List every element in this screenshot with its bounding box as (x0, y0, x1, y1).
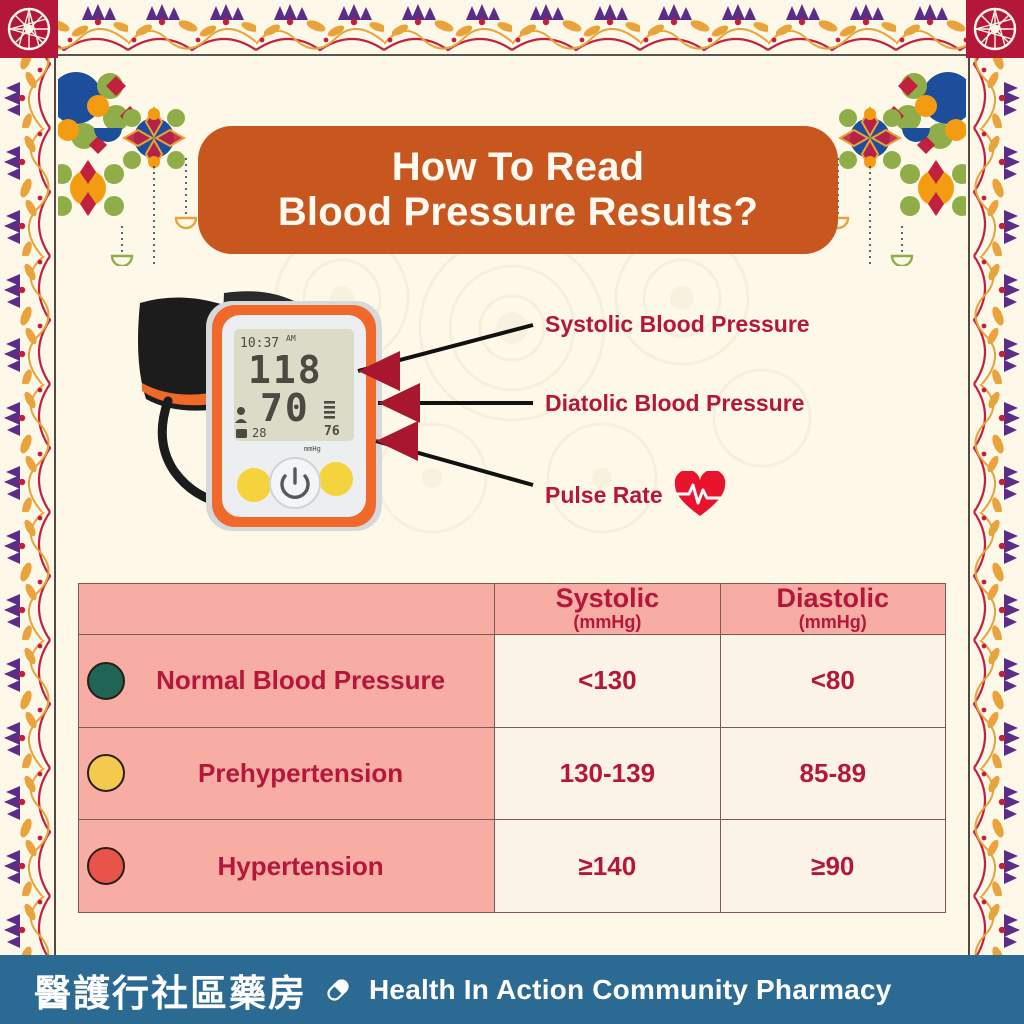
capsule-pill-icon (321, 973, 355, 1007)
systolic-value: 130-139 (495, 727, 720, 820)
diastolic-value: <80 (720, 634, 945, 727)
border-band-left (0, 0, 58, 1024)
status-dot-prehypertension (87, 754, 125, 792)
corner-medallion-top-right (966, 0, 1024, 58)
systolic-value: ≥140 (495, 820, 720, 913)
systolic-value: <130 (495, 634, 720, 727)
border-band-top (0, 0, 1024, 58)
title-banner: How To Read Blood Pressure Results? (198, 126, 838, 254)
table-row: Normal Blood Pressure <130 <80 (79, 634, 946, 727)
device-and-callouts: 10:37 AM 118 70 76 28 mmHg (58, 273, 966, 573)
rangoli-flower (839, 108, 901, 169)
diastolic-value: ≥90 (720, 820, 945, 913)
table-row: Prehypertension 130-139 85-89 (79, 727, 946, 820)
callout-connector-lines (58, 273, 966, 573)
category-label: Hypertension (125, 851, 494, 882)
header-systolic-unit: (mmHg) (495, 612, 719, 634)
status-dot-normal (87, 662, 125, 700)
rangoli-flower (58, 160, 124, 216)
header-systolic: Systolic (mmHg) (495, 584, 720, 635)
title-line-1: How To Read (392, 145, 645, 190)
title-line-2: Blood Pressure Results? (278, 190, 758, 235)
footer-bar: 醫護行社區藥房 Health In Action Community Pharm… (0, 955, 1024, 1024)
table-row: Hypertension ≥140 ≥90 (79, 820, 946, 913)
header-diastolic-unit: (mmHg) (721, 612, 945, 634)
row-category-cell: Hypertension (79, 820, 495, 913)
footer-chinese-name: 醫護行社區藥房 (34, 963, 307, 1017)
hanging-diya (838, 158, 902, 266)
status-dot-hypertension (87, 847, 125, 885)
sunburst-icon (972, 6, 1018, 52)
blood-pressure-ranges-table: Systolic (mmHg) Diastolic (mmHg) Normal … (78, 583, 946, 913)
footer-english-name: Health In Action Community Pharmacy (369, 974, 892, 1006)
diastolic-value: 85-89 (720, 727, 945, 820)
table-header-row: Systolic (mmHg) Diastolic (mmHg) (79, 584, 946, 635)
header-systolic-name: Systolic (495, 584, 719, 612)
header-blank (79, 584, 495, 635)
arrowhead (358, 351, 420, 461)
row-category-cell: Prehypertension (79, 727, 495, 820)
rangoli-flower (123, 108, 185, 169)
category-label: Normal Blood Pressure (125, 665, 494, 696)
header-diastolic: Diastolic (mmHg) (720, 584, 945, 635)
poster-root: How To Read Blood Pressure Results? (0, 0, 1024, 1024)
corner-medallion-top-left (0, 0, 58, 58)
poster-canvas: How To Read Blood Pressure Results? (58, 58, 966, 955)
sunburst-icon (6, 6, 52, 52)
rangoli-flower (900, 160, 966, 216)
category-label: Prehypertension (125, 758, 494, 789)
hanging-diya (122, 158, 186, 266)
diya-lamp (828, 218, 912, 266)
row-category-cell: Normal Blood Pressure (79, 634, 495, 727)
border-band-right (966, 0, 1024, 1024)
diya-lamp (112, 218, 196, 266)
header-diastolic-name: Diastolic (721, 584, 945, 612)
